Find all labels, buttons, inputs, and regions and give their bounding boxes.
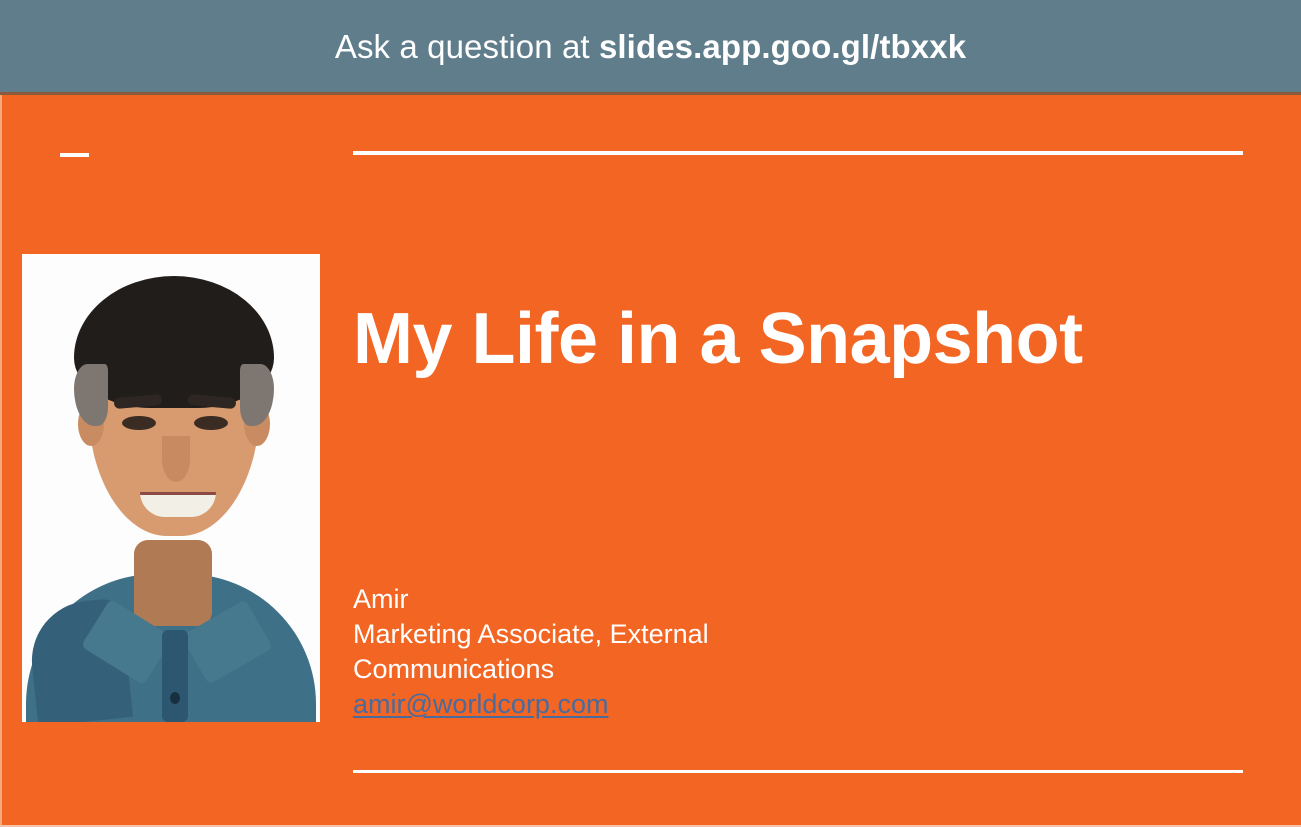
audience-question-banner: Ask a question at slides.app.goo.gl/tbxx… (0, 0, 1301, 95)
photo-shirt-button (170, 692, 180, 704)
banner-prompt-label: Ask a question at (335, 28, 599, 65)
divider-rule-top (353, 151, 1243, 155)
slide-left-edge (0, 95, 2, 827)
photo-backdrop (22, 254, 320, 722)
presentation-slide: Ask a question at slides.app.goo.gl/tbxx… (0, 0, 1301, 827)
slide-title: My Life in a Snapshot (353, 301, 1243, 379)
photo-eye-right (194, 416, 228, 430)
photo-placket (162, 630, 188, 722)
photo-nose (162, 436, 190, 482)
presenter-photo (22, 254, 320, 722)
banner-text: Ask a question at slides.app.goo.gl/tbxx… (335, 30, 966, 63)
photo-neck (134, 540, 212, 626)
presenter-role: Marketing Associate, External Communicat… (353, 617, 823, 687)
decorative-dash (60, 153, 89, 157)
photo-eye-left (122, 416, 156, 430)
presenter-email-link[interactable]: amir@worldcorp.com (353, 687, 608, 722)
presenter-name: Amir (353, 582, 823, 617)
banner-question-url[interactable]: slides.app.goo.gl/tbxxk (599, 28, 966, 65)
presenter-byline: Amir Marketing Associate, External Commu… (353, 582, 823, 722)
divider-rule-bottom (353, 770, 1243, 773)
slide-content-area: My Life in a Snapshot Amir Marketing Ass… (0, 95, 1301, 827)
